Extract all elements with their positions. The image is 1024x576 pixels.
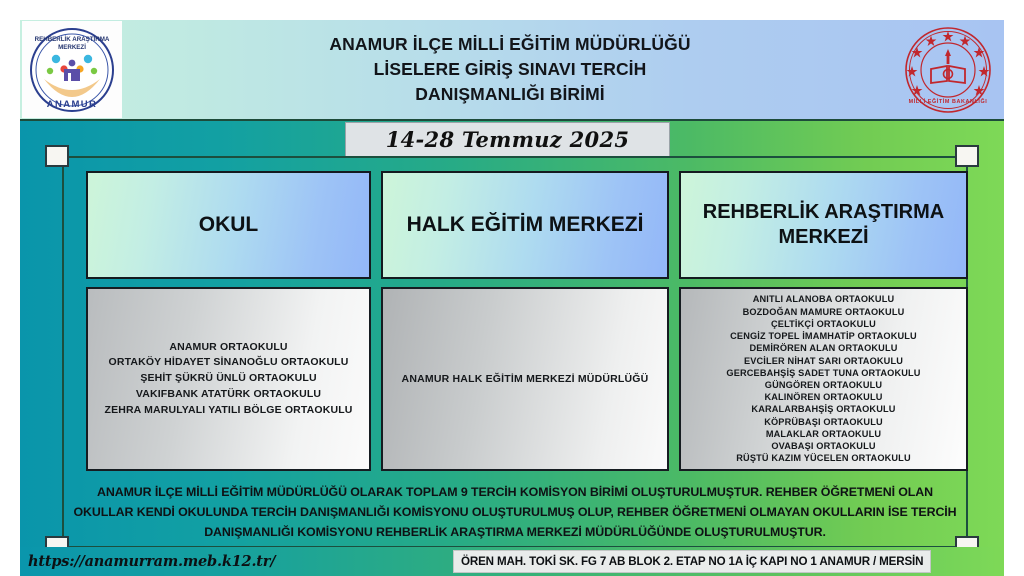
footer-address: ÖREN MAH. TOKİ SK. FG 7 AB BLOK 2. ETAP … xyxy=(453,550,931,573)
list-item: DEMİRÖREN ALAN ORTAOKULU xyxy=(726,342,920,354)
list-item: ANITLI ALANOBA ORTAOKULU xyxy=(726,293,920,305)
list-item: EVCİLER NİHAT SARI ORTAOKULU xyxy=(726,355,920,367)
frame-handle-top-left[interactable] xyxy=(45,145,69,167)
column-heading-rehberlik-arastirma-merkezi: REHBERLİK ARAŞTIRMA MERKEZİ xyxy=(679,171,968,279)
school-list-ram: ANITLI ALANOBA ORTAOKULU BOZDOĞAN MAMURE… xyxy=(726,293,920,464)
date-banner: 14-28 Temmuz 2025 xyxy=(345,122,670,157)
list-item: ZEHRA MARULYALI YATILI BÖLGE ORTAOKULU xyxy=(105,403,353,419)
list-item: ORTAKÖY HİDAYET SİNANOĞLU ORTAOKULU xyxy=(105,355,353,371)
column-okul: OKUL ANAMUR ORTAOKULU ORTAKÖY HİDAYET Sİ… xyxy=(86,171,371,471)
header-title-line-3: DANIŞMANLIĞI BİRİMİ xyxy=(128,82,892,107)
list-item: GERCEBAHŞİŞ SADET TUNA ORTAOKULU xyxy=(726,367,920,379)
list-item: KÖPRÜBAŞI ORTAOKULU xyxy=(726,416,920,428)
poster-canvas: REHBERLİK ARAŞTIRMA MERKEZİ ANAMUR ANA xyxy=(0,0,1024,576)
list-item: KARALARBAHŞİŞ ORTAOKULU xyxy=(726,403,920,415)
rehberlik-arastirma-merkezi-anamur-logo: REHBERLİK ARAŞTIRMA MERKEZİ ANAMUR xyxy=(22,21,122,118)
school-list-okul: ANAMUR ORTAOKULU ORTAKÖY HİDAYET SİNANOĞ… xyxy=(105,340,353,419)
list-item: ŞEHİT ŞÜKRÜ ÜNLÜ ORTAOKULU xyxy=(105,371,353,387)
column-heading-okul: OKUL xyxy=(86,171,371,279)
frame-line-left xyxy=(62,156,64,548)
header-title-line-2: LİSELERE GİRİŞ SINAVI TERCİH xyxy=(128,57,892,82)
ram-logo-svg: REHBERLİK ARAŞTIRMA MERKEZİ ANAMUR xyxy=(26,25,118,115)
column-body-halk-egitim-merkezi: ANAMUR HALK EĞİTİM MERKEZİ MÜDÜRLÜĞÜ xyxy=(381,287,669,471)
list-item: KALINÖREN ORTAOKULU xyxy=(726,391,920,403)
commission-columns: OKUL ANAMUR ORTAOKULU ORTAKÖY HİDAYET Sİ… xyxy=(86,171,968,471)
list-item: MALAKLAR ORTAOKULU xyxy=(726,428,920,440)
list-item: ÇELTİKÇİ ORTAOKULU xyxy=(726,318,920,330)
svg-text:MERKEZİ: MERKEZİ xyxy=(58,44,86,51)
footer-website-url[interactable]: https://anamurram.meb.k12.tr/ xyxy=(28,553,275,570)
header-banner: REHBERLİK ARAŞTIRMA MERKEZİ ANAMUR ANA xyxy=(20,20,1004,119)
svg-text:ANAMUR: ANAMUR xyxy=(47,99,98,110)
svg-text:REHBERLİK ARAŞTIRMA: REHBERLİK ARAŞTIRMA xyxy=(35,36,110,43)
header-title-line-1: ANAMUR İLÇE MİLLİ EĞİTİM MÜDÜRLÜĞÜ xyxy=(128,32,892,57)
column-body-okul: ANAMUR ORTAOKULU ORTAKÖY HİDAYET SİNANOĞ… xyxy=(86,287,371,471)
header-title: ANAMUR İLÇE MİLLİ EĞİTİM MÜDÜRLÜĞÜ LİSEL… xyxy=(122,32,898,107)
footer-bar: https://anamurram.meb.k12.tr/ ÖREN MAH. … xyxy=(20,547,1004,576)
meb-logo-svg: MİLLİ EĞİTİM BAKANLIĞI xyxy=(903,25,993,115)
list-item: VAKIFBANK ATATÜRK ORTAOKULU xyxy=(105,387,353,403)
list-item: GÜNGÖREN ORTAOKULU xyxy=(726,379,920,391)
svg-text:MİLLİ EĞİTİM BAKANLIĞI: MİLLİ EĞİTİM BAKANLIĞI xyxy=(909,97,988,105)
column-body-rehberlik-arastirma-merkezi: ANITLI ALANOBA ORTAOKULU BOZDOĞAN MAMURE… xyxy=(679,287,968,471)
list-item: OVABAŞI ORTAOKULU xyxy=(726,440,920,452)
list-item: ANAMUR HALK EĞİTİM MERKEZİ MÜDÜRLÜĞÜ xyxy=(402,373,649,385)
frame-handle-top-right[interactable] xyxy=(955,145,979,167)
list-item: ANAMUR ORTAOKULU xyxy=(105,340,353,356)
column-halk-egitim-merkezi: HALK EĞİTİM MERKEZİ ANAMUR HALK EĞİTİM M… xyxy=(381,171,669,471)
frame-line-top xyxy=(62,156,968,158)
list-item: RÜŞTÜ KAZIM YÜCELEN ORTAOKULU xyxy=(726,452,920,464)
milli-egitim-bakanligi-logo: MİLLİ EĞİTİM BAKANLIĞI xyxy=(898,21,998,118)
column-rehberlik-arastirma-merkezi: REHBERLİK ARAŞTIRMA MERKEZİ ANITLI ALANO… xyxy=(679,171,968,471)
note-paragraph: ANAMUR İLÇE MİLLİ EĞİTİM MÜDÜRLÜĞÜ OLARA… xyxy=(66,482,964,542)
list-item: BOZDOĞAN MAMURE ORTAOKULU xyxy=(726,306,920,318)
list-item: CENGİZ TOPEL İMAMHATİP ORTAOKULU xyxy=(726,330,920,342)
column-heading-halk-egitim-merkezi: HALK EĞİTİM MERKEZİ xyxy=(381,171,669,279)
